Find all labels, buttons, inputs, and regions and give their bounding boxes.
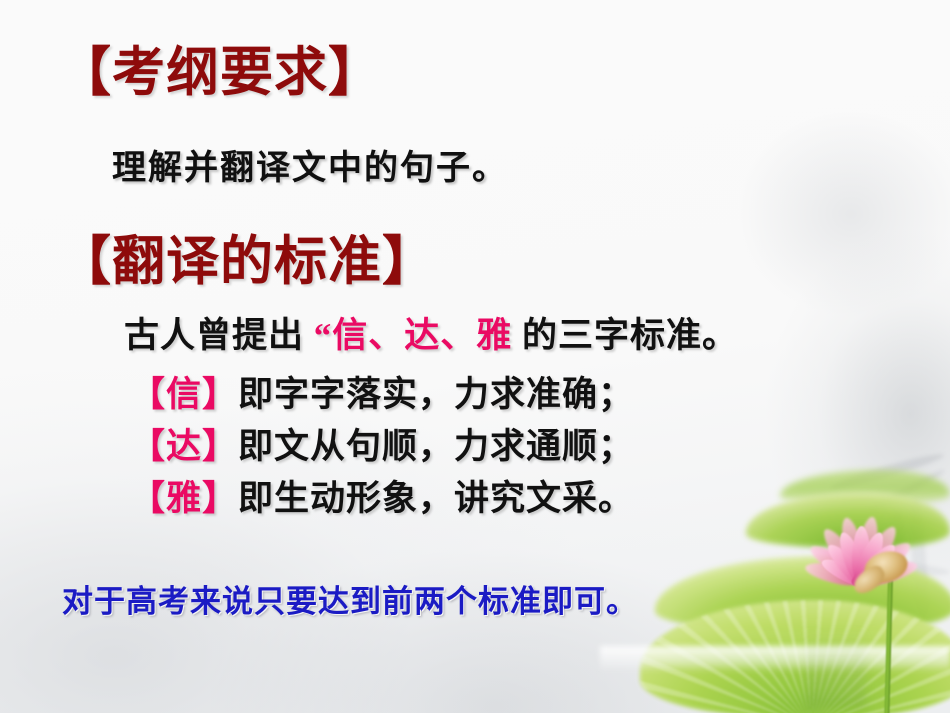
standard-item-ya: 【雅】即生动形象，讲究文采。 — [130, 481, 634, 516]
standard-text-ya: 即生动形象，讲究文采。 — [238, 479, 634, 518]
standard-tag-xin: 【信】 — [130, 375, 238, 414]
heading-exam-outline: 【考纲要求】 — [58, 47, 382, 100]
standard-tag-ya: 【雅】 — [130, 479, 238, 518]
footer-note: 对于高考来说只要达到前两个标准即可。 — [62, 586, 638, 617]
standards-intro-suffix: 的三字标准。 — [512, 316, 738, 355]
standards-intro-line: 古人曾提出 “信、达、雅 的三字标准。 — [124, 318, 738, 353]
standard-text-xin: 即字字落实，力求准确； — [238, 375, 634, 414]
standard-text-da: 即文从句顺，力求通顺； — [238, 427, 634, 466]
standard-tag-da: 【达】 — [130, 427, 238, 466]
standard-item-xin: 【信】即字字落实，力求准确； — [130, 377, 634, 412]
standards-intro-prefix: 古人曾提出 — [124, 316, 314, 355]
standard-item-da: 【达】即文从句顺，力求通顺； — [130, 429, 634, 464]
slide-text-layer: 【考纲要求】 理解并翻译文中的句子。 【翻译的标准】 古人曾提出 “信、达、雅 … — [0, 0, 950, 713]
slide-canvas: 【考纲要求】 理解并翻译文中的句子。 【翻译的标准】 古人曾提出 “信、达、雅 … — [0, 0, 950, 713]
heading-translation-standard: 【翻译的标准】 — [58, 236, 436, 289]
standards-intro-quoted: “信、达、雅 — [314, 316, 513, 355]
body-requirement: 理解并翻译文中的句子。 — [112, 152, 508, 186]
